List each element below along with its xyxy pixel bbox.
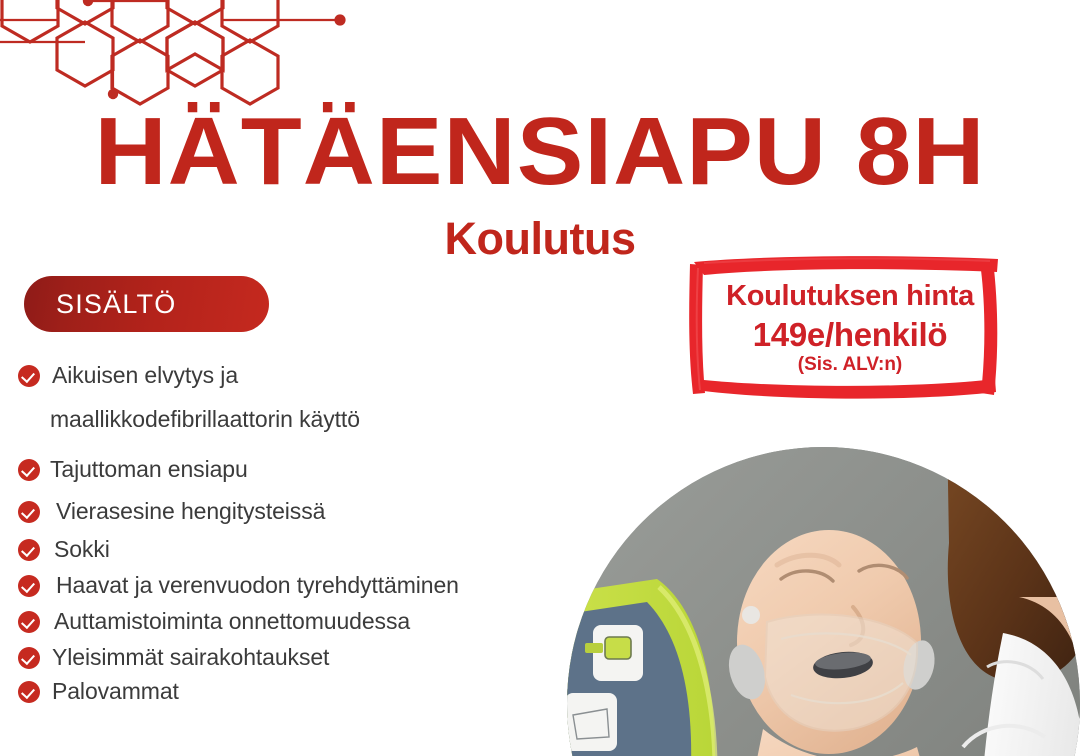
price-heading: Koulutuksen hinta [726, 279, 974, 313]
check-circle-icon [18, 501, 40, 523]
list-item: Vierasesine hengitysteissä [18, 496, 538, 526]
list-item-label: maallikkodefibrillaattorin käyttö [40, 404, 360, 434]
list-item-label: Auttamistoiminta onnettomuudessa [40, 606, 410, 636]
list-item-label: Yleisimmät sairakohtaukset [40, 642, 329, 672]
check-circle-icon [18, 611, 40, 633]
poster-root: HÄTÄENSIAPU 8H Koulutus SISÄLTÖ Aikuisen… [0, 0, 1080, 756]
list-item: Yleisimmät sairakohtaukset [18, 642, 538, 672]
check-circle-icon [18, 365, 40, 387]
list-item: Haavat ja verenvuodon tyrehdyttäminen [18, 570, 538, 600]
price-amount: 149e/henkilö [753, 313, 948, 357]
content-section-badge-label: SISÄLTÖ [24, 289, 176, 320]
page-title: HÄTÄENSIAPU 8H [0, 104, 1080, 200]
check-circle-icon [18, 575, 40, 597]
hexagon-network-pattern-icon [0, 0, 360, 108]
list-item-label: Vierasesine hengitysteissä [40, 496, 325, 526]
list-item-label: Sokki [40, 534, 110, 564]
cpr-manikin-aed-illustration: ON/OFF [567, 447, 1080, 756]
list-item-label: Palovammat [40, 676, 179, 706]
course-content-list: Aikuisen elvytys ja maallikkodefibrillaa… [18, 360, 538, 710]
price-content: Koulutuksen hinta 149e/henkilö (Sis. ALV… [702, 266, 998, 388]
list-item: Tajuttoman ensiapu [18, 454, 538, 484]
price-vat-note: (Sis. ALV:n) [798, 354, 903, 376]
list-item: Sokki [18, 534, 538, 564]
list-item: Auttamistoiminta onnettomuudessa [18, 606, 538, 636]
check-circle-icon [18, 681, 40, 703]
list-item: Aikuisen elvytys ja [18, 360, 538, 390]
list-item: Palovammat [18, 676, 538, 706]
content-section-badge: SISÄLTÖ [24, 276, 269, 332]
check-circle-icon [18, 459, 40, 481]
check-circle-icon [18, 539, 40, 561]
list-item-label: Haavat ja verenvuodon tyrehdyttäminen [40, 570, 459, 600]
bullet-spacer [18, 404, 40, 405]
title-block: HÄTÄENSIAPU 8H Koulutus [0, 104, 1080, 262]
list-item-label: Tajuttoman ensiapu [40, 454, 248, 484]
list-item-label: Aikuisen elvytys ja [40, 360, 238, 390]
list-item-continuation: maallikkodefibrillaattorin käyttö [18, 404, 538, 434]
check-circle-icon [18, 647, 40, 669]
cpr-manikin-aed-photo: ON/OFF [567, 447, 1080, 756]
price-box: Koulutuksen hinta 149e/henkilö (Sis. ALV… [680, 250, 1020, 405]
